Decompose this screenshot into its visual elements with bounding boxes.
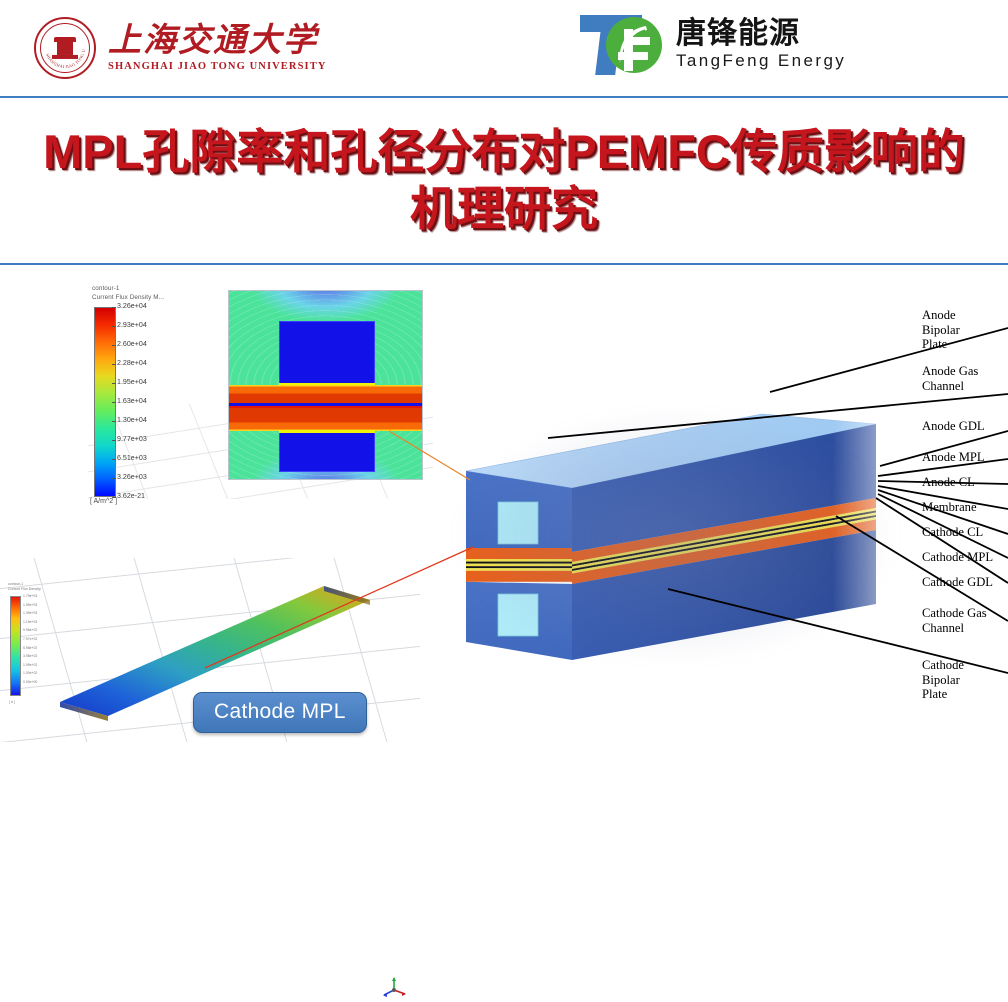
contour-plot-image [228, 290, 423, 480]
axis-triad-icon [380, 974, 408, 1002]
title-block: MPL孔隙率和孔径分布对PEMFC传质影响的机理研究 [0, 100, 1008, 260]
header-divider-top [0, 96, 1008, 98]
cathode-mpl-badge[interactable]: Cathode MPL [193, 692, 367, 733]
mpl-colorbar-ticks: 1.79e+031.59e+031.39e+031.19e+039.96e+02… [23, 592, 37, 687]
label-membrane: Membrane [922, 500, 977, 515]
slide-root: SHANGHAI JIAO TONG UNIV 上海交通大学 SHANGHAI … [0, 0, 1008, 742]
mpl-colorbar-unit: [ A ] [9, 700, 15, 704]
label-cathode-cl: Cathode CL [922, 525, 983, 540]
contour-colorbar-unit: [ A/m^2 ] [90, 498, 117, 505]
colorbar-tick: 6.51e+03 [117, 454, 147, 462]
page-title: MPL孔隙率和孔径分布对PEMFC传质影响的机理研究 [24, 123, 984, 238]
figure-canvas: contour-1 Current Flux Density M... 3.26… [0, 266, 1008, 742]
tangfeng-mark-icon [578, 11, 670, 77]
colorbar-tick: 1.63e+04 [117, 397, 147, 405]
sjtu-name-en: SHANGHAI JIAO TONG UNIVERSITY [108, 61, 327, 72]
colorbar-tick: 2.28e+04 [117, 359, 147, 367]
label-cathode-mpl: Cathode MPL [922, 550, 993, 565]
contour-legend-quantity: Current Flux Density M... [92, 294, 164, 301]
colorbar-tick: 3.26e+03 [117, 473, 147, 481]
header-divider-bottom [0, 263, 1008, 265]
colorbar-tick: 3.62e-21 [117, 492, 145, 500]
sjtu-seal-icon: SHANGHAI JIAO TONG UNIV [34, 17, 96, 79]
colorbar-tick: 1.95e+04 [117, 378, 147, 386]
cell-label-column: AnodeBipolarPlate Anode GasChannel Anode… [922, 266, 1008, 742]
label-cathode-gas-channel: Cathode GasChannel [922, 606, 987, 635]
colorbar-tick: 1.30e+04 [117, 416, 147, 424]
contour-colorbar-ticks: 3.26e+04 2.93e+04 2.60e+04 2.28e+04 1.95… [117, 302, 197, 502]
colorbar-tick: 9.77e+03 [117, 435, 147, 443]
tangfeng-logo: 唐锋能源 TangFeng Energy [578, 8, 878, 80]
sjtu-name-cn: 上海交通大学 [108, 24, 327, 59]
label-anode-gas-channel: Anode GasChannel [922, 364, 978, 393]
label-cathode-gdl: Cathode GDL [922, 575, 993, 590]
label-anode-mpl: Anode MPL [922, 450, 985, 465]
slide-header: SHANGHAI JIAO TONG UNIV 上海交通大学 SHANGHAI … [0, 0, 1008, 97]
fuel-cell-3d-figure [440, 376, 920, 706]
contour-legend-name: contour-1 [92, 285, 120, 292]
tangfeng-name-en: TangFeng Energy [676, 51, 846, 71]
colorbar-tick: 3.26e+04 [117, 302, 147, 310]
contour-legend-title: contour-1 Current Flux Density M... [92, 284, 164, 302]
colorbar-tick: 2.60e+04 [117, 340, 147, 348]
label-anode-cl: Anode CL [922, 475, 975, 490]
sjtu-logo: SHANGHAI JIAO TONG UNIV 上海交通大学 SHANGHAI … [34, 12, 302, 84]
cathode-mpl-badge-label[interactable]: Cathode MPL [193, 692, 367, 733]
contour-figure: contour-1 Current Flux Density M... 3.26… [88, 274, 433, 489]
colorbar-tick: 2.93e+04 [117, 321, 147, 329]
label-cathode-bipolar-plate: CathodeBipolarPlate [922, 658, 964, 702]
label-anode-bipolar-plate: AnodeBipolarPlate [922, 308, 960, 352]
tangfeng-name-cn: 唐锋能源 [676, 17, 846, 50]
mpl-colorbar [10, 596, 21, 696]
label-anode-gdl: Anode GDL [922, 419, 985, 434]
